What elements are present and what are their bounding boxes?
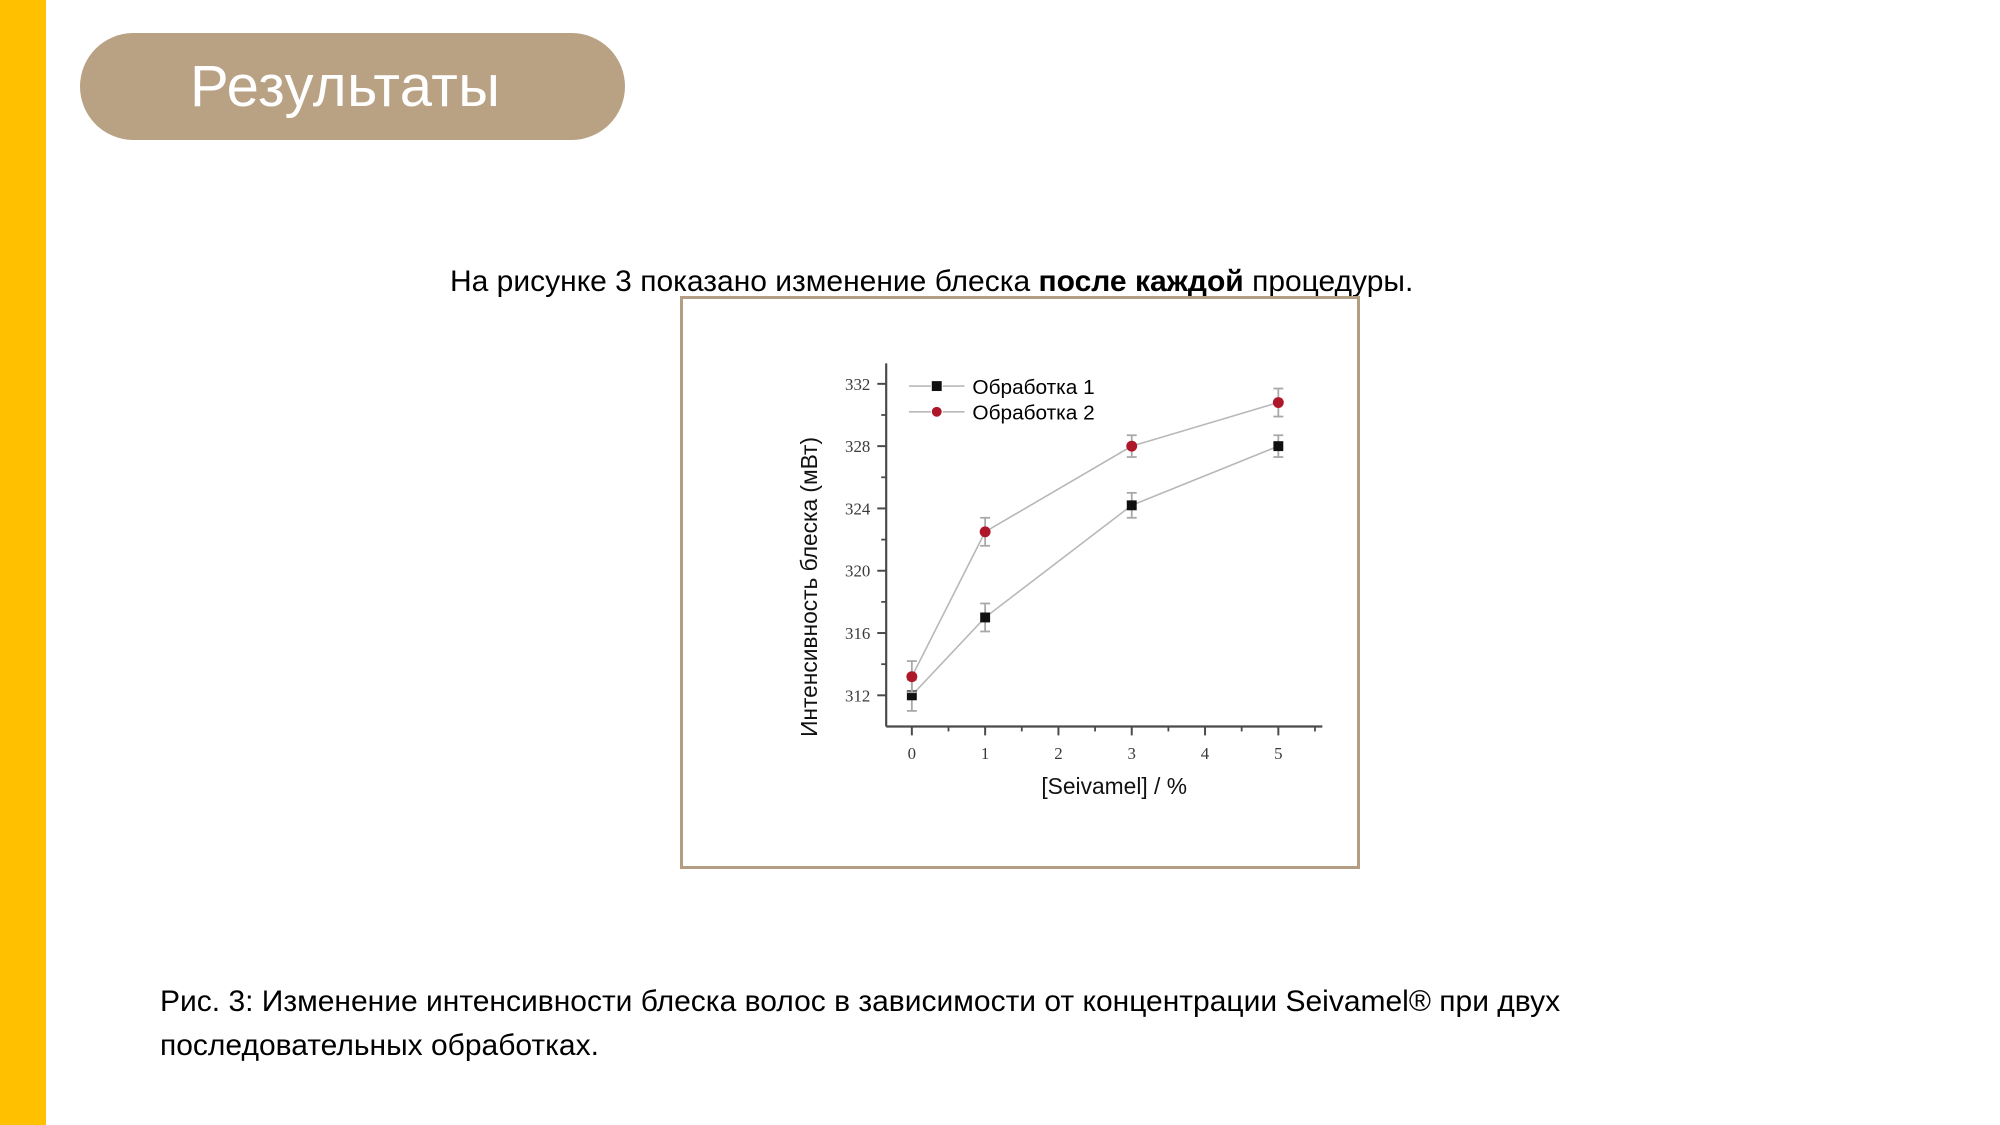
data-point-circle: [1273, 397, 1284, 408]
x-tick-label: 5: [1274, 744, 1282, 763]
x-axis-title: [Seivamel] / %: [1041, 773, 1187, 799]
intro-suffix: процедуры.: [1244, 265, 1414, 298]
legend-marker-square: [932, 381, 942, 391]
gloss-intensity-line-chart: 312316320324328332012345[Seivamel] / %Ин…: [683, 299, 1357, 866]
data-point-circle: [1126, 441, 1137, 452]
x-tick-label: 1: [981, 744, 989, 763]
y-tick-label: 332: [845, 375, 870, 394]
intro-bold: после каждой: [1039, 265, 1244, 298]
figure-caption: Рис. 3: Изменение интенсивности блеска в…: [160, 980, 1800, 1067]
x-tick-label: 3: [1128, 744, 1136, 763]
series-line-2: [912, 403, 1278, 677]
page-title: Результаты: [80, 58, 500, 116]
data-point-square: [980, 613, 990, 623]
x-tick-label: 4: [1201, 744, 1210, 763]
y-tick-label: 312: [845, 686, 870, 705]
data-point-square: [1273, 441, 1283, 451]
left-accent-bar: [0, 0, 46, 1125]
y-tick-label: 324: [845, 499, 871, 518]
x-tick-label: 0: [908, 744, 916, 763]
slide-title-pill: Результаты: [80, 33, 625, 140]
figure-3-frame: 312316320324328332012345[Seivamel] / %Ин…: [680, 296, 1360, 869]
series-line-1: [912, 446, 1278, 695]
data-point-circle: [906, 671, 917, 682]
data-point-circle: [980, 526, 991, 537]
data-point-square: [1127, 500, 1137, 510]
legend-label-2: Обработка 2: [972, 402, 1094, 425]
intro-prefix: На рисунке 3 показано изменение блеска: [450, 265, 1039, 298]
legend-label-1: Обработка 1: [972, 376, 1094, 399]
legend-marker-circle: [932, 407, 942, 417]
y-axis-title: Интенсивность блеска (мВт): [796, 437, 822, 737]
y-tick-label: 316: [845, 624, 870, 643]
x-tick-label: 2: [1054, 744, 1062, 763]
y-tick-label: 328: [845, 437, 870, 456]
y-tick-label: 320: [845, 562, 870, 581]
